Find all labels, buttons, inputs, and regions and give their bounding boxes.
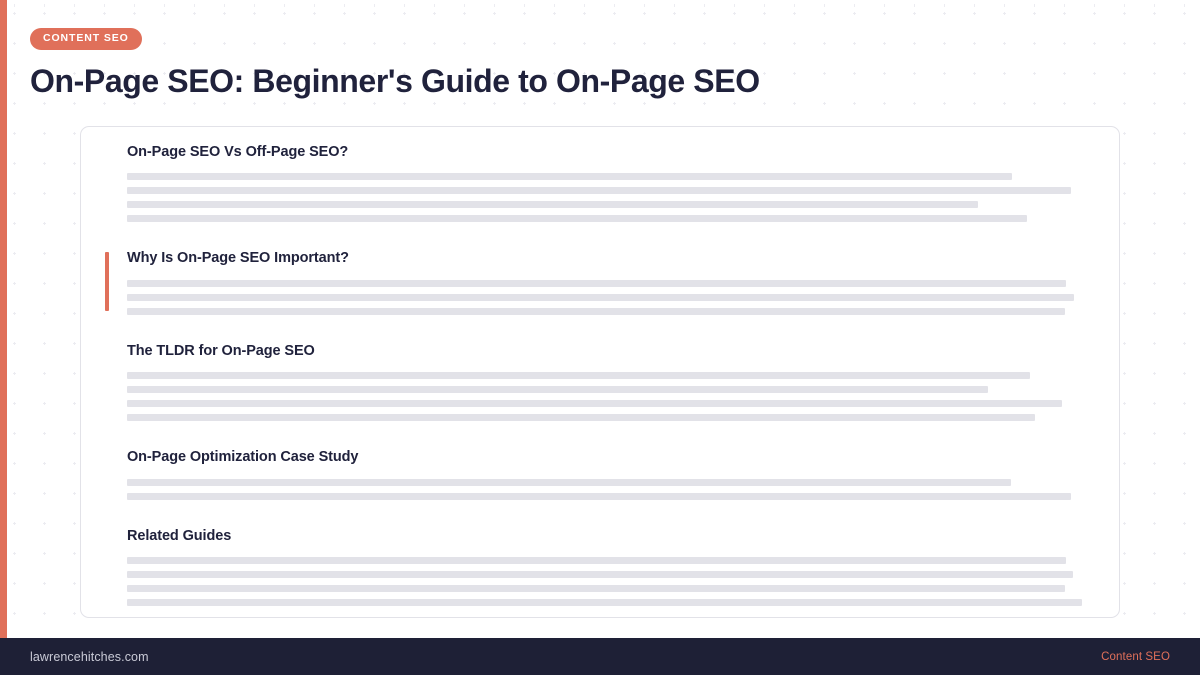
placeholder-line	[127, 386, 988, 393]
content-section[interactable]: On-Page Optimization Case Study	[105, 449, 1105, 499]
section-spacer	[105, 322, 1105, 343]
placeholder-line	[127, 173, 1012, 180]
category-badge[interactable]: CONTENT SEO	[30, 28, 142, 50]
section-placeholder-lines	[127, 372, 1105, 421]
page-title: On-Page SEO: Beginner's Guide to On-Page…	[30, 63, 760, 100]
content-section[interactable]: The TLDR for On-Page SEO	[105, 343, 1105, 421]
footer-site-name: lawrencehitches.com	[30, 650, 149, 664]
left-accent-rail	[0, 0, 7, 638]
placeholder-line	[127, 414, 1035, 421]
section-heading: The TLDR for On-Page SEO	[127, 343, 1105, 360]
section-heading: On-Page Optimization Case Study	[127, 449, 1105, 466]
placeholder-line	[127, 400, 1062, 407]
placeholder-line	[127, 187, 1071, 194]
section-active-accent-bar	[105, 252, 109, 310]
section-placeholder-lines	[127, 173, 1105, 222]
section-placeholder-lines	[127, 479, 1105, 500]
placeholder-line	[127, 215, 1027, 222]
placeholder-line	[127, 557, 1066, 564]
sections-list: On-Page SEO Vs Off-Page SEO?Why Is On-Pa…	[105, 144, 1105, 613]
placeholder-line	[127, 308, 1065, 315]
section-heading: On-Page SEO Vs Off-Page SEO?	[127, 144, 1105, 161]
content-section[interactable]: Why Is On-Page SEO Important?	[105, 250, 1105, 314]
section-placeholder-lines	[127, 557, 1105, 606]
placeholder-line	[127, 599, 1082, 606]
page-footer: lawrencehitches.com Content SEO	[0, 638, 1200, 675]
content-section[interactable]: On-Page SEO Vs Off-Page SEO?	[105, 144, 1105, 222]
section-heading: Why Is On-Page SEO Important?	[127, 250, 1105, 267]
content-section[interactable]: Related Guides	[105, 528, 1105, 606]
section-placeholder-lines	[127, 280, 1105, 315]
section-spacer	[105, 428, 1105, 449]
placeholder-line	[127, 571, 1073, 578]
footer-category-label: Content SEO	[1101, 651, 1170, 663]
placeholder-line	[127, 493, 1071, 500]
placeholder-line	[127, 372, 1030, 379]
section-heading: Related Guides	[127, 528, 1105, 545]
section-spacer	[105, 507, 1105, 528]
placeholder-line	[127, 294, 1074, 301]
section-spacer	[105, 229, 1105, 250]
placeholder-line	[127, 585, 1065, 592]
content-card: On-Page SEO Vs Off-Page SEO?Why Is On-Pa…	[80, 126, 1120, 618]
page-header: CONTENT SEO On-Page SEO: Beginner's Guid…	[30, 28, 760, 99]
placeholder-line	[127, 201, 978, 208]
placeholder-line	[127, 280, 1066, 287]
placeholder-line	[127, 479, 1011, 486]
